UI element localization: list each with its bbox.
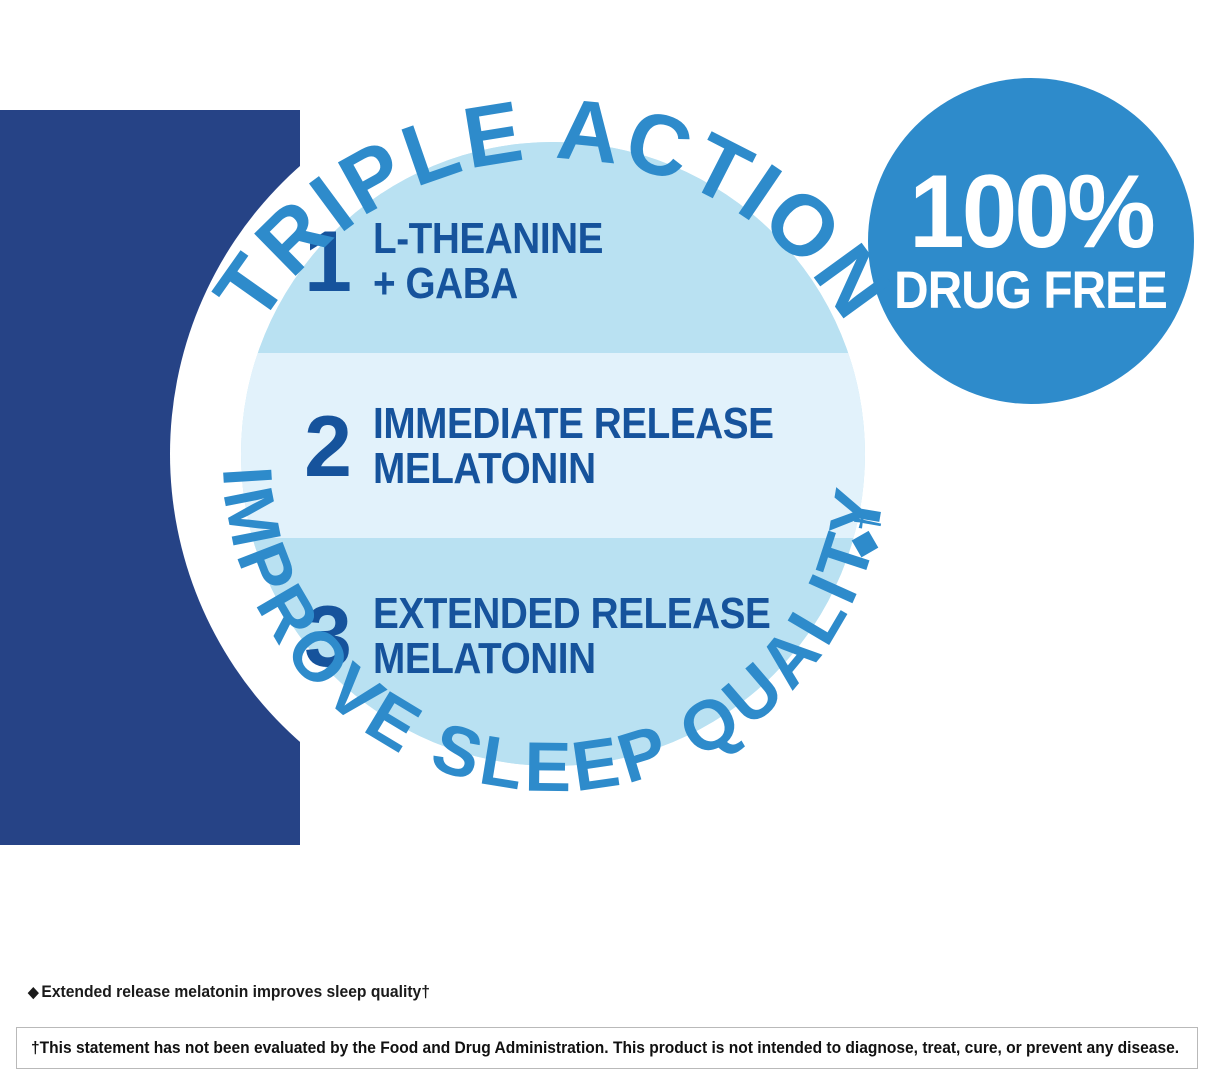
diamond-icon: ◆ (28, 984, 39, 1001)
triple-action-graphic: 1 L-THEANINE + GABA 2 IMMEDIATE RELEASE … (0, 0, 1214, 960)
headline-arc-path: TRIPLE ACTION (196, 81, 911, 338)
fda-disclaimer-box: †This statement has not been evaluated b… (16, 1027, 1198, 1069)
headline-arc-text: TRIPLE ACTION (196, 81, 911, 338)
curved-text-layer: TRIPLE ACTION IMPROVE SLEEP QUALITY ◆† (0, 0, 1214, 960)
subline-arc-text: IMPROVE SLEEP QUALITY (208, 464, 900, 806)
fda-disclaimer-text: †This statement has not been evaluated b… (31, 1038, 1179, 1058)
footnote-claim-text: Extended release melatonin improves slee… (41, 982, 430, 1001)
footnote-claim: ◆Extended release melatonin improves sle… (28, 982, 1095, 1002)
subline-arc-path: IMPROVE SLEEP QUALITY (208, 464, 900, 806)
